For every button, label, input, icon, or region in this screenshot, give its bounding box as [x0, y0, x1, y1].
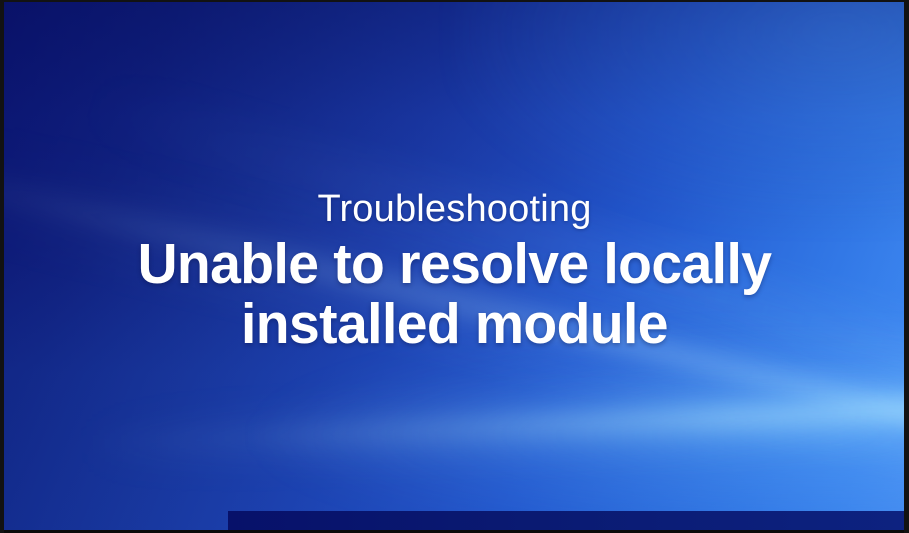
slide-headline-line-2: installed module: [47, 296, 863, 352]
slide-eyebrow: Troubleshooting: [34, 186, 875, 232]
title-slide: Troubleshooting Unable to resolve locall…: [0, 0, 909, 533]
slide-headline-line-1: Unable to resolve locally: [47, 236, 863, 292]
bottom-accent-bar: [228, 511, 909, 533]
slide-text-block: Troubleshooting Unable to resolve locall…: [0, 186, 909, 352]
